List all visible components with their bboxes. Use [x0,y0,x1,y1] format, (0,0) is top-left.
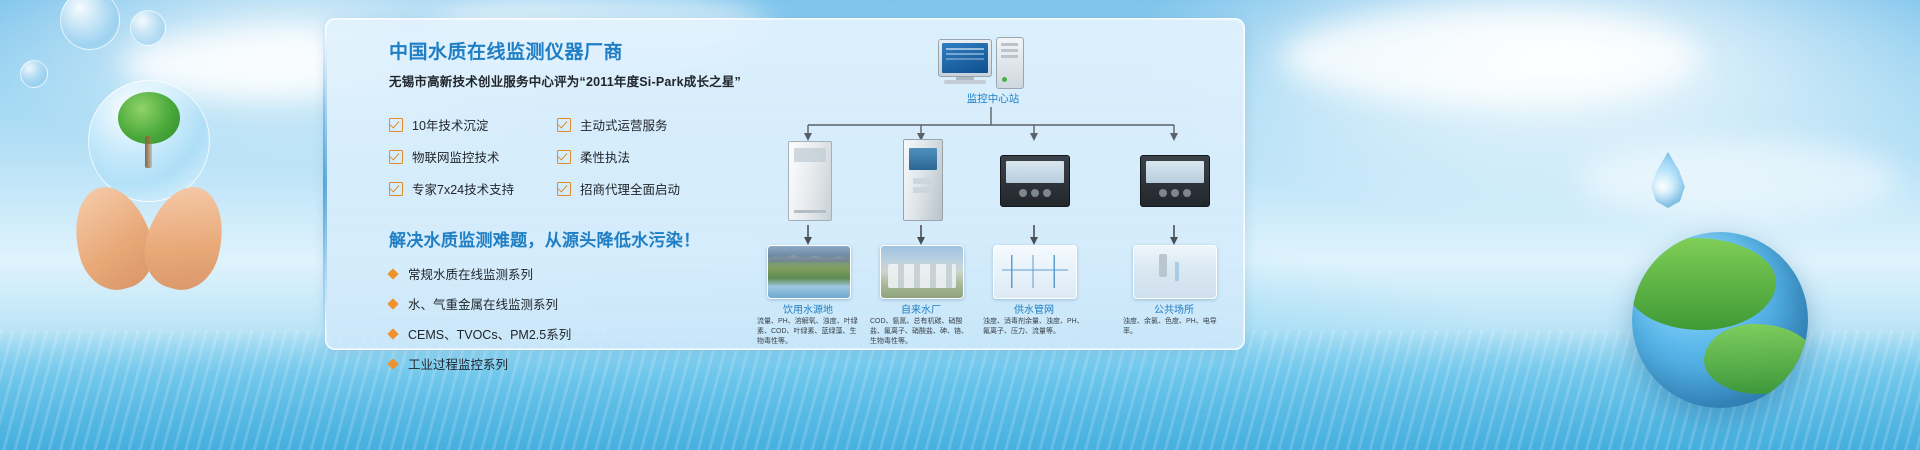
device-cabinet-1 [766,137,852,223]
scenario-description: COD、氨氮、总有机碳、硝酸盐、氟离子、硝酸盐、砷、铬、生物毒性等。 [870,317,974,347]
analyzer-buttons [1146,189,1204,197]
diamond-bullet-icon [387,358,398,369]
list-item: 水、气重金属在线监测系列 [389,294,749,313]
scenario-photo-public-place [1133,245,1217,299]
analyzer-icon [1000,155,1070,207]
scenario-description: 流量、PH、溶解氧、浊度、叶绿素、COD、叶绿素、蓝绿藻、生物毒性等。 [757,317,861,347]
checklist-item: 柔性执法 [557,147,725,166]
section-heading: 解决水质监测难题，从源头降低水污染！ [389,226,749,251]
system-topology-diagram: 监控中心站 [766,33,1216,339]
scenario-caption: 公共场所 [1115,301,1233,316]
bubble-shape [130,10,166,46]
analyzer-icon [1140,155,1210,207]
globe-land [1704,324,1808,394]
monitor-screen [942,43,988,73]
decoration-hands-tree [70,150,330,450]
checklist-item-label: 10年技术沉淀 [412,115,488,134]
device-row [766,137,1216,223]
server-tower-icon [996,37,1024,89]
page-title: 中国水质在线监测仪器厂商 [389,41,749,65]
scenario-caption: 供水管网 [975,301,1093,316]
monitoring-center-label: 监控中心站 [918,91,1068,106]
list-item: CEMS、TVOCs、PM2.5系列 [389,324,749,343]
checklist-item-label: 主动式运营服务 [580,115,668,134]
checklist-item-label: 柔性执法 [580,147,630,166]
list-item: 常规水质在线监测系列 [389,264,749,283]
analyzer-display [1146,161,1204,183]
diamond-bullet-icon [387,298,398,309]
scenario-description: 浊度、消毒剂余量、浊度、PH、氟离子、压力、流量等。 [983,317,1087,337]
monitor-icon [938,39,992,77]
application-scenario-row: 饮用水源地 流量、PH、溶解氧、浊度、叶绿素、COD、叶绿素、蓝绿藻、生物毒性等… [766,245,1216,307]
content-panel: 中国水质在线监测仪器厂商 无锡市高新技术创业服务中心评为“2011年度Si-Pa… [325,18,1245,350]
feature-checklist: 10年技术沉淀 主动式运营服务 物联网监控技术 柔性执法 专家7x24技术支持 … [389,115,749,198]
device-analyzer-1 [992,137,1078,223]
check-icon [557,150,571,164]
checklist-item-label: 招商代理全面启动 [580,179,680,198]
cabinet-window [909,148,937,170]
globe-icon [1632,232,1808,408]
checklist-item-label: 物联网监控技术 [412,147,500,166]
cabinet-icon [903,139,943,221]
scenario-description: 浊度、余氯、色度、PH、电导率。 [1123,317,1227,337]
product-series-list: 常规水质在线监测系列 水、气重金属在线监测系列 CEMS、TVOCs、PM2.5… [389,264,749,373]
globe-land [1632,238,1776,330]
diamond-bullet-icon [387,328,398,339]
scenario-photo-pipe-network [993,245,1077,299]
check-icon [557,118,571,132]
checklist-item-label: 专家7x24技术支持 [412,179,514,198]
cloud-shape [1280,10,1700,105]
list-item-label: 常规水质在线监测系列 [408,264,533,283]
check-icon [389,118,403,132]
decoration-globe-droplet [1580,170,1900,430]
list-item-label: 工业过程监控系列 [408,354,508,373]
checklist-item: 10年技术沉淀 [389,115,557,134]
bubble-shape [20,60,48,88]
analyzer-display [1006,161,1064,183]
page-subtitle: 无锡市高新技术创业服务中心评为“2011年度Si-Park成长之星” [389,74,749,91]
list-item-label: 水、气重金属在线监测系列 [408,294,558,313]
check-icon [557,182,571,196]
cabinet-icon [788,141,832,221]
list-item-label: CEMS、TVOCs、PM2.5系列 [408,324,571,343]
monitor-base [944,80,986,84]
marketing-copy-column: 中国水质在线监测仪器厂商 无锡市高新技术创业服务中心评为“2011年度Si-Pa… [389,41,749,373]
check-icon [389,150,403,164]
checklist-item: 专家7x24技术支持 [389,179,557,198]
check-icon [389,182,403,196]
analyzer-buttons [1006,189,1064,197]
device-analyzer-2 [1132,137,1218,223]
tree-trunk-icon [145,136,152,168]
cabinet-knob [913,178,933,184]
list-item: 工业过程监控系列 [389,354,749,373]
scenario-caption: 自来水厂 [862,301,980,316]
scenario-photo-source-water [767,245,851,299]
device-cabinet-2 [879,137,965,223]
scenario-caption: 饮用水源地 [749,301,867,316]
checklist-item: 主动式运营服务 [557,115,725,134]
checklist-item: 物联网监控技术 [389,147,557,166]
diamond-bullet-icon [387,268,398,279]
scenario-photo-waterworks [880,245,964,299]
monitoring-center-node [938,37,1044,89]
checklist-item: 招商代理全面启动 [557,179,725,198]
